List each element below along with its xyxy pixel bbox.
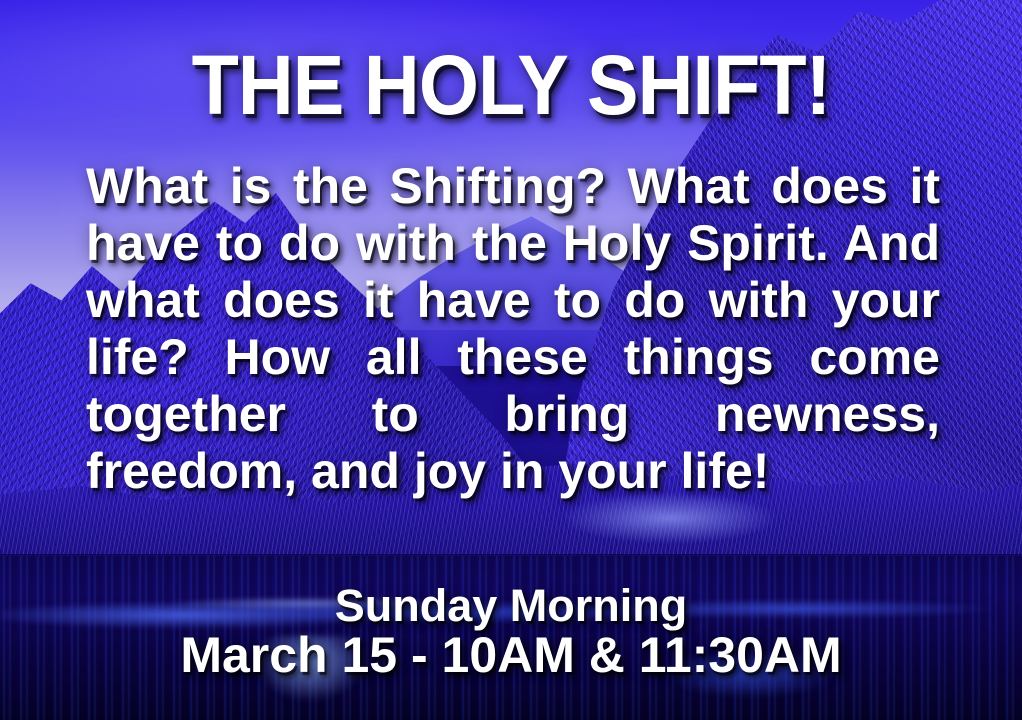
service-date-times-label: March 15 - 10AM & 11:30AM [0, 629, 1022, 681]
poster-footer: Sunday Morning March 15 - 10AM & 11:30AM [0, 582, 1022, 681]
text-layer: THE HOLY SHIFT! What is the Shifting? Wh… [0, 0, 1022, 720]
poster-body-text: What is the Shifting? What does it have … [86, 158, 940, 500]
service-day-label: Sunday Morning [0, 582, 1022, 629]
poster-canvas: THE HOLY SHIFT! What is the Shifting? Wh… [0, 0, 1022, 720]
poster-title: THE HOLY SHIFT! [41, 42, 981, 128]
